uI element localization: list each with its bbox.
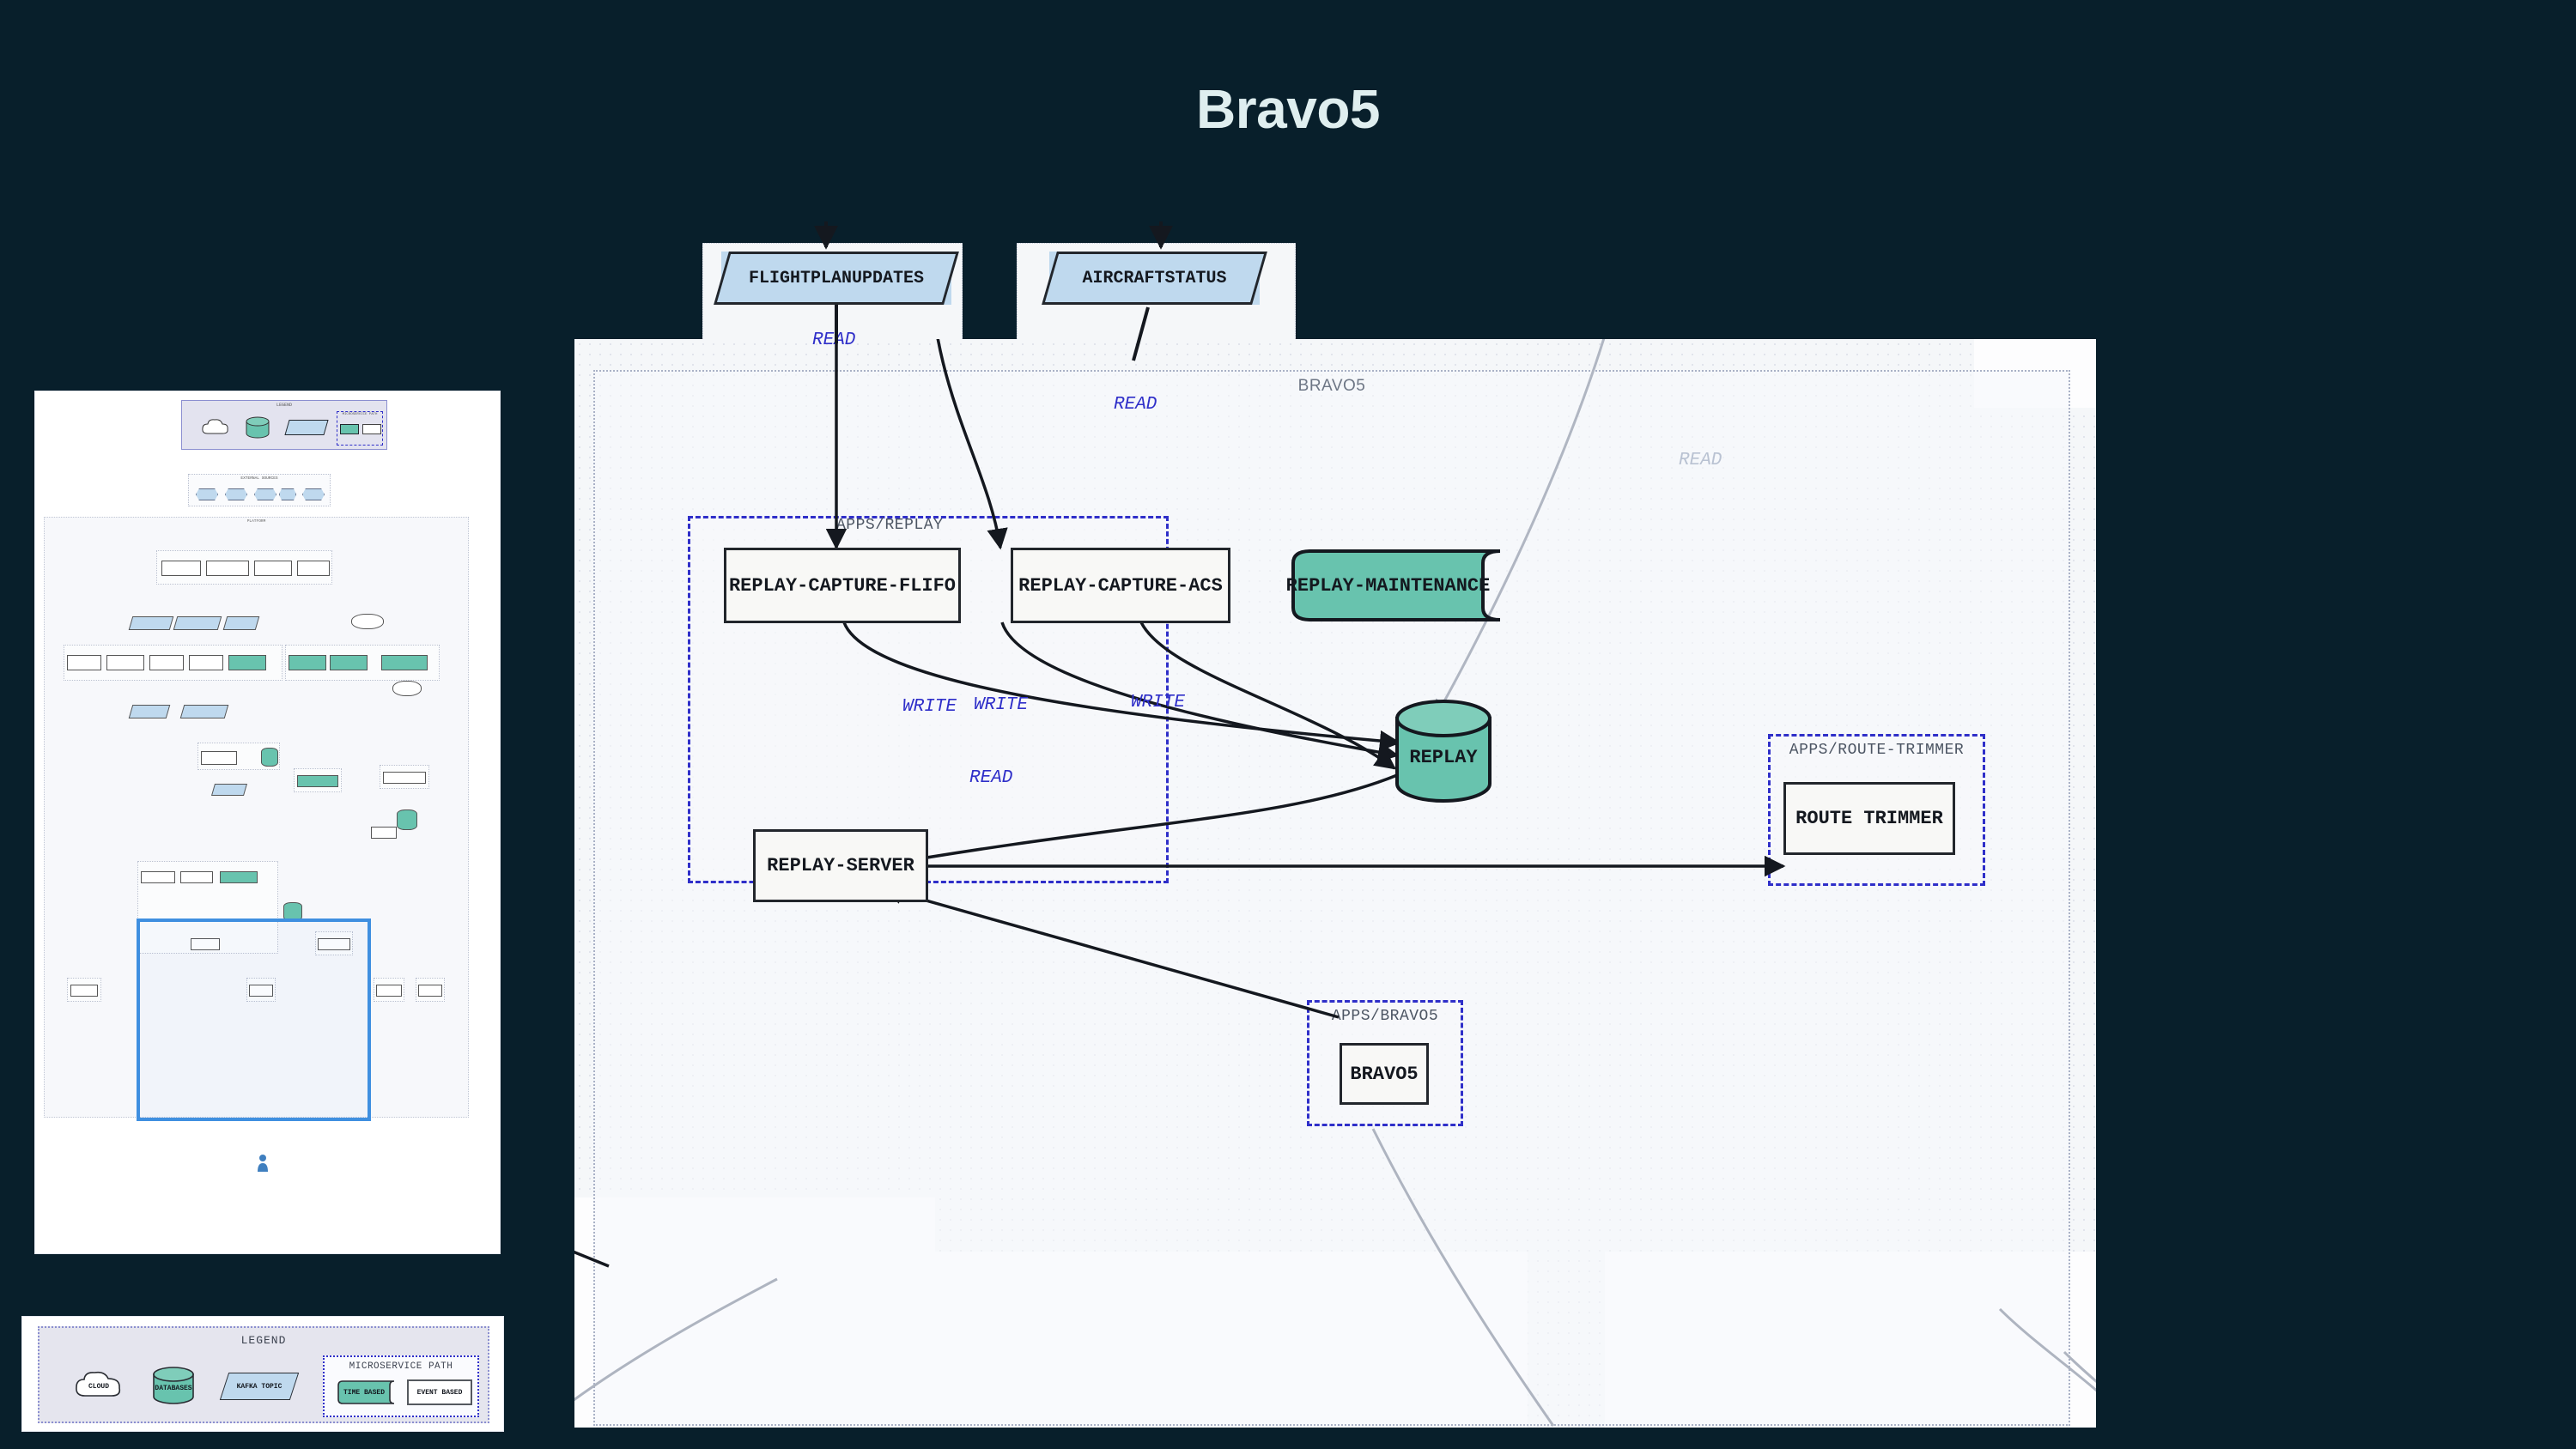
node-flightplanupdates[interactable]: FLIGHTPLANUPDATES [721, 252, 951, 305]
legend-microservice-path: MICROSERVICE PATH TIME BASED EVENT BASED [323, 1355, 479, 1417]
node-label-bravo5: BRAVO5 [1350, 1064, 1418, 1085]
edge-label-read-right-outer: READ [1679, 451, 1722, 470]
minimap-external-sources-label: EXTERNAL SOURCES [189, 476, 330, 481]
minimap-node [254, 561, 292, 576]
legend-label-event-based: EVENT BASED [417, 1389, 463, 1397]
legend-item-kafka-topic: KAFKA TOPIC [224, 1373, 295, 1400]
minimap-microservice-path: MICROSERVICE PATH [337, 411, 383, 446]
legend-label-time-based: TIME BASED [343, 1389, 385, 1397]
node-replay-db[interactable]: REPLAY [1390, 700, 1497, 803]
cluster-label-apps-bravo5: APPS/BRAVO5 [1309, 1008, 1461, 1025]
minimap-microservice-path-title: MICROSERVICE PATH [337, 413, 382, 416]
minimap-content: LEGEND MICROSERVICE PATH EXTERNAL SOURCE… [35, 391, 500, 1253]
legend-box: LEGEND CLOUD DATABASES KAFKA TOPIC [38, 1326, 489, 1423]
minimap-node [249, 985, 273, 997]
minimap-node [191, 938, 220, 950]
minimap-node-topic [129, 616, 174, 630]
minimap-node [376, 985, 402, 997]
minimap-node [418, 985, 442, 997]
legend-title: LEGEND [39, 1334, 488, 1347]
minimap-node [189, 655, 223, 670]
minimap-node [383, 772, 426, 784]
minimap-node-topic [173, 616, 222, 630]
minimap-node-cloud [392, 681, 422, 696]
minimap-node-topic [180, 705, 229, 718]
minimap-node-time-based [381, 655, 428, 670]
minimap-node-time-based [228, 655, 266, 670]
minimap-node [149, 655, 184, 670]
minimap-node-cloud [351, 614, 384, 629]
node-replay-capture-flifo[interactable]: REPLAY-CAPTURE-FLIFO [724, 548, 961, 623]
minimap-node [318, 938, 350, 950]
minimap-node [161, 561, 201, 576]
minimap-external-sources: EXTERNAL SOURCES [188, 474, 331, 506]
minimap-event-based-icon [362, 424, 381, 434]
cluster-label-bravo5-root: BRAVO5 [595, 377, 2069, 396]
minimap-node-db [283, 902, 302, 921]
minimap-node [70, 985, 98, 997]
node-label-replay-capture-acs: REPLAY-CAPTURE-ACS [1018, 575, 1223, 597]
legend-item-time-based: TIME BASED [333, 1379, 395, 1405]
minimap-node-topic [223, 616, 260, 630]
minimap-node [141, 871, 175, 883]
legend-label-cloud: CLOUD [88, 1383, 109, 1391]
minimap-panel[interactable]: LEGEND MICROSERVICE PATH EXTERNAL SOURCE… [34, 391, 501, 1254]
minimap-node-time-based [330, 655, 368, 670]
minimap-hex-4 [279, 488, 296, 500]
minimap-node [201, 751, 237, 765]
legend-microservice-path-title: MICROSERVICE PATH [325, 1361, 477, 1372]
node-label-aircraftstatus: AIRCRAFTSTATUS [1082, 269, 1226, 288]
minimap-database-icon [244, 416, 271, 439]
node-replay-capture-acs[interactable]: REPLAY-CAPTURE-ACS [1011, 548, 1230, 623]
legend-item-databases: DATABASES [151, 1366, 196, 1405]
cluster-label-apps-replay: APPS/REPLAY [836, 517, 943, 534]
legend-label-databases: DATABASES [155, 1385, 191, 1392]
page-title: Bravo5 [0, 77, 2576, 141]
node-replay-server[interactable]: REPLAY-SERVER [753, 829, 928, 902]
minimap-node [297, 561, 330, 576]
minimap-legend-title: LEGEND [182, 403, 386, 408]
minimap-node-db [261, 748, 278, 767]
minimap-hex-2 [225, 488, 247, 500]
minimap-hex-1 [196, 488, 218, 500]
node-aircraftstatus[interactable]: AIRCRAFTSTATUS [1049, 252, 1260, 305]
minimap-node-time-based [220, 871, 258, 883]
node-label-route-trimmer: ROUTE TRIMMER [1795, 808, 1943, 829]
edge-label-read-replay-server: READ [969, 768, 1012, 788]
node-bravo5[interactable]: BRAVO5 [1340, 1043, 1429, 1105]
legend-panel: LEGEND CLOUD DATABASES KAFKA TOPIC [21, 1316, 504, 1432]
diagram-page: Bravo5 BRAVO5 APPS/REPLAY APPS/ROUTE-TRI… [0, 0, 2576, 1449]
minimap-platform-label: PLATFORM [45, 519, 468, 524]
node-label-replay-capture-flifo: REPLAY-CAPTURE-FLIFO [729, 575, 956, 597]
minimap-node-time-based [297, 775, 338, 787]
minimap-cloud-icon [201, 418, 230, 437]
node-label-replay-maintenance: REPLAY-MAINTENANCE [1286, 575, 1491, 597]
diagram-canvas[interactable]: BRAVO5 APPS/REPLAY APPS/ROUTE-TRIMMER AP… [574, 339, 2096, 1428]
minimap-kafka-topic-icon [284, 420, 328, 435]
legend-label-kafka-topic: KAFKA TOPIC [237, 1383, 283, 1391]
node-label-replay-server: REPLAY-SERVER [767, 855, 914, 876]
cluster-label-apps-route-trimmer: APPS/ROUTE-TRIMMER [1771, 742, 1983, 759]
node-label-flightplanupdates: FLIGHTPLANUPDATES [749, 269, 924, 288]
minimap-node-db [397, 809, 417, 830]
edge-label-write-flifo: WRITE [902, 697, 957, 717]
node-route-trimmer[interactable]: ROUTE TRIMMER [1783, 782, 1955, 855]
minimap-node [180, 871, 213, 883]
minimap-time-based-icon [340, 424, 359, 434]
minimap-legend: LEGEND MICROSERVICE PATH [181, 400, 387, 450]
minimap-hex-5 [302, 488, 325, 500]
node-label-replay-db: REPLAY [1409, 747, 1477, 768]
minimap-platform: PLATFORM [44, 517, 469, 1118]
legend-item-cloud: CLOUD [74, 1369, 124, 1402]
edge-label-read-flightplanupdates-outer: READ [812, 330, 855, 350]
minimap-node-time-based [289, 655, 326, 670]
edge-label-write-maintenance: WRITE [1131, 693, 1185, 712]
minimap-node [67, 655, 101, 670]
node-replay-maintenance[interactable]: REPLAY-MAINTENANCE [1274, 548, 1502, 623]
minimap-hex-3 [254, 488, 276, 500]
minimap-node-topic [211, 784, 247, 796]
edge-label-write-acs: WRITE [974, 695, 1028, 715]
legend-item-event-based: EVENT BASED [407, 1379, 472, 1405]
minimap-node [371, 827, 397, 839]
edge-label-read-aircraftstatus-outer: READ [1114, 395, 1157, 415]
minimap-node [106, 655, 144, 670]
minimap-node-topic [129, 705, 171, 718]
minimap-user-icon [257, 1154, 269, 1173]
minimap-node [206, 561, 249, 576]
